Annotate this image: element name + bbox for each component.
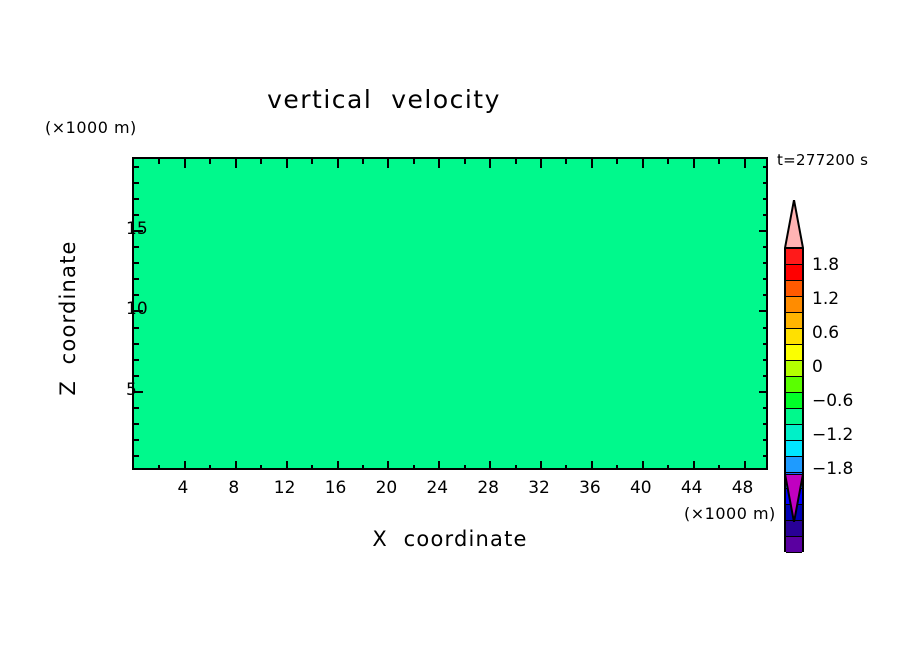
x-axis-unit-label: (×1000 m) xyxy=(684,504,776,523)
y-minor-tick-left xyxy=(134,198,139,200)
y-minor-tick-right xyxy=(763,278,768,280)
colorbar-band xyxy=(786,536,802,553)
x-minor-tick-bottom xyxy=(718,465,720,470)
colorbar-band xyxy=(786,392,802,409)
x-minor-tick-top xyxy=(311,159,313,164)
x-major-tick-top xyxy=(591,159,593,168)
x-major-tick-bottom xyxy=(235,461,237,470)
x-minor-tick-top xyxy=(565,159,567,164)
colorbar-tick-label: −1.2 xyxy=(812,425,853,445)
x-major-tick-top xyxy=(540,159,542,168)
x-major-tick-bottom xyxy=(591,461,593,470)
x-minor-tick-top xyxy=(515,159,517,164)
colorbar-band xyxy=(786,264,802,281)
y-minor-tick-left xyxy=(134,343,139,345)
colorbar-band xyxy=(786,408,802,425)
x-tick-label: 40 xyxy=(630,478,652,498)
colorbar-tick-label: 1.8 xyxy=(812,255,839,275)
colorbar-band xyxy=(786,456,802,473)
colorbar-tick-label: −0.6 xyxy=(812,391,853,411)
colorbar-band xyxy=(786,376,802,393)
y-minor-tick-right xyxy=(763,246,768,248)
x-tick-label: 48 xyxy=(732,478,754,498)
x-major-tick-bottom xyxy=(438,461,440,470)
y-minor-tick-left xyxy=(134,375,139,377)
x-major-tick-bottom xyxy=(540,461,542,470)
y-minor-tick-left xyxy=(134,439,139,441)
x-major-tick-bottom xyxy=(184,461,186,470)
x-minor-tick-bottom xyxy=(209,465,211,470)
x-tick-label: 36 xyxy=(579,478,601,498)
y-axis-unit-label: (×1000 m) xyxy=(45,118,137,137)
colorbar-under-arrow-icon xyxy=(784,474,804,522)
y-minor-tick-right xyxy=(763,423,768,425)
x-tick-label: 16 xyxy=(325,478,347,498)
x-tick-label: 44 xyxy=(681,478,703,498)
y-minor-tick-left xyxy=(134,327,139,329)
colorbar-band xyxy=(786,520,802,537)
x-major-tick-bottom xyxy=(286,461,288,470)
colorbar-tick-label: 0.6 xyxy=(812,323,839,343)
x-tick-label: 28 xyxy=(477,478,499,498)
x-major-tick-bottom xyxy=(693,461,695,470)
colorbar-band xyxy=(786,296,802,313)
y-minor-tick-right xyxy=(763,294,768,296)
y-minor-tick-right xyxy=(763,439,768,441)
y-minor-tick-right xyxy=(763,375,768,377)
x-minor-tick-bottom xyxy=(158,465,160,470)
x-major-tick-top xyxy=(337,159,339,168)
y-minor-tick-left xyxy=(134,359,139,361)
y-minor-tick-left xyxy=(134,455,139,457)
x-major-tick-top xyxy=(489,159,491,168)
y-major-tick-right xyxy=(759,230,768,232)
y-major-tick-right xyxy=(759,310,768,312)
x-tick-label: 12 xyxy=(274,478,296,498)
y-minor-tick-left xyxy=(134,262,139,264)
x-major-tick-top xyxy=(744,159,746,168)
x-minor-tick-bottom xyxy=(362,465,364,470)
colorbar-band xyxy=(786,424,802,441)
x-minor-tick-top xyxy=(718,159,720,164)
y-minor-tick-right xyxy=(763,198,768,200)
colorbar-tick-label: −1.8 xyxy=(812,459,853,479)
y-minor-tick-left xyxy=(134,214,139,216)
x-minor-tick-top xyxy=(260,159,262,164)
x-tick-label: 24 xyxy=(426,478,448,498)
x-minor-tick-top xyxy=(362,159,364,164)
x-minor-tick-bottom xyxy=(667,465,669,470)
x-major-tick-bottom xyxy=(337,461,339,470)
x-tick-label: 8 xyxy=(228,478,239,498)
colorbar-band xyxy=(786,360,802,377)
x-major-tick-top xyxy=(438,159,440,168)
y-minor-tick-left xyxy=(134,166,139,168)
x-minor-tick-bottom xyxy=(413,465,415,470)
x-axis-title: X coordinate xyxy=(0,527,900,551)
x-minor-tick-top xyxy=(158,159,160,164)
colorbar-tick-label: 1.2 xyxy=(812,289,839,309)
page-title: vertical velocity xyxy=(0,85,768,114)
x-minor-tick-top xyxy=(616,159,618,164)
y-minor-tick-left xyxy=(134,423,139,425)
x-tick-label: 20 xyxy=(376,478,398,498)
x-minor-tick-bottom xyxy=(311,465,313,470)
y-minor-tick-left xyxy=(134,182,139,184)
x-major-tick-bottom xyxy=(642,461,644,470)
y-minor-tick-right xyxy=(763,407,768,409)
colorbar-tick-label: 0 xyxy=(812,357,823,377)
y-minor-tick-right xyxy=(763,214,768,216)
y-minor-tick-right xyxy=(763,327,768,329)
y-minor-tick-right xyxy=(763,262,768,264)
y-minor-tick-left xyxy=(134,246,139,248)
x-minor-tick-top xyxy=(667,159,669,164)
y-major-tick-right xyxy=(759,391,768,393)
y-minor-tick-right xyxy=(763,455,768,457)
x-minor-tick-bottom xyxy=(616,465,618,470)
x-minor-tick-top xyxy=(209,159,211,164)
plot-area xyxy=(132,157,768,470)
y-minor-tick-left xyxy=(134,407,139,409)
y-minor-tick-right xyxy=(763,182,768,184)
x-major-tick-top xyxy=(286,159,288,168)
y-minor-tick-right xyxy=(763,359,768,361)
y-minor-tick-right xyxy=(763,166,768,168)
y-minor-tick-left xyxy=(134,278,139,280)
colorbar-band xyxy=(786,328,802,345)
y-axis-title: Z coordinate xyxy=(56,208,80,428)
colorbar-band xyxy=(786,344,802,361)
heatmap-field xyxy=(134,159,766,468)
colorbar-band xyxy=(786,248,802,265)
colorbar-band xyxy=(786,440,802,457)
x-major-tick-top xyxy=(387,159,389,168)
x-major-tick-top xyxy=(642,159,644,168)
x-minor-tick-bottom xyxy=(260,465,262,470)
colorbar-band xyxy=(786,312,802,329)
colorbar-over-arrow-icon xyxy=(784,200,804,248)
x-major-tick-bottom xyxy=(489,461,491,470)
x-major-tick-top xyxy=(235,159,237,168)
y-minor-tick-left xyxy=(134,294,139,296)
colorbar xyxy=(784,200,804,522)
x-major-tick-top xyxy=(184,159,186,168)
y-minor-tick-right xyxy=(763,343,768,345)
x-major-tick-bottom xyxy=(387,461,389,470)
x-tick-label: 4 xyxy=(177,478,188,498)
x-major-tick-top xyxy=(693,159,695,168)
x-minor-tick-bottom xyxy=(565,465,567,470)
x-minor-tick-bottom xyxy=(464,465,466,470)
timestamp-label: t=277200 s xyxy=(777,151,868,169)
x-minor-tick-top xyxy=(413,159,415,164)
x-major-tick-bottom xyxy=(744,461,746,470)
x-minor-tick-top xyxy=(464,159,466,164)
x-minor-tick-bottom xyxy=(515,465,517,470)
colorbar-band xyxy=(786,280,802,297)
x-tick-label: 32 xyxy=(528,478,550,498)
